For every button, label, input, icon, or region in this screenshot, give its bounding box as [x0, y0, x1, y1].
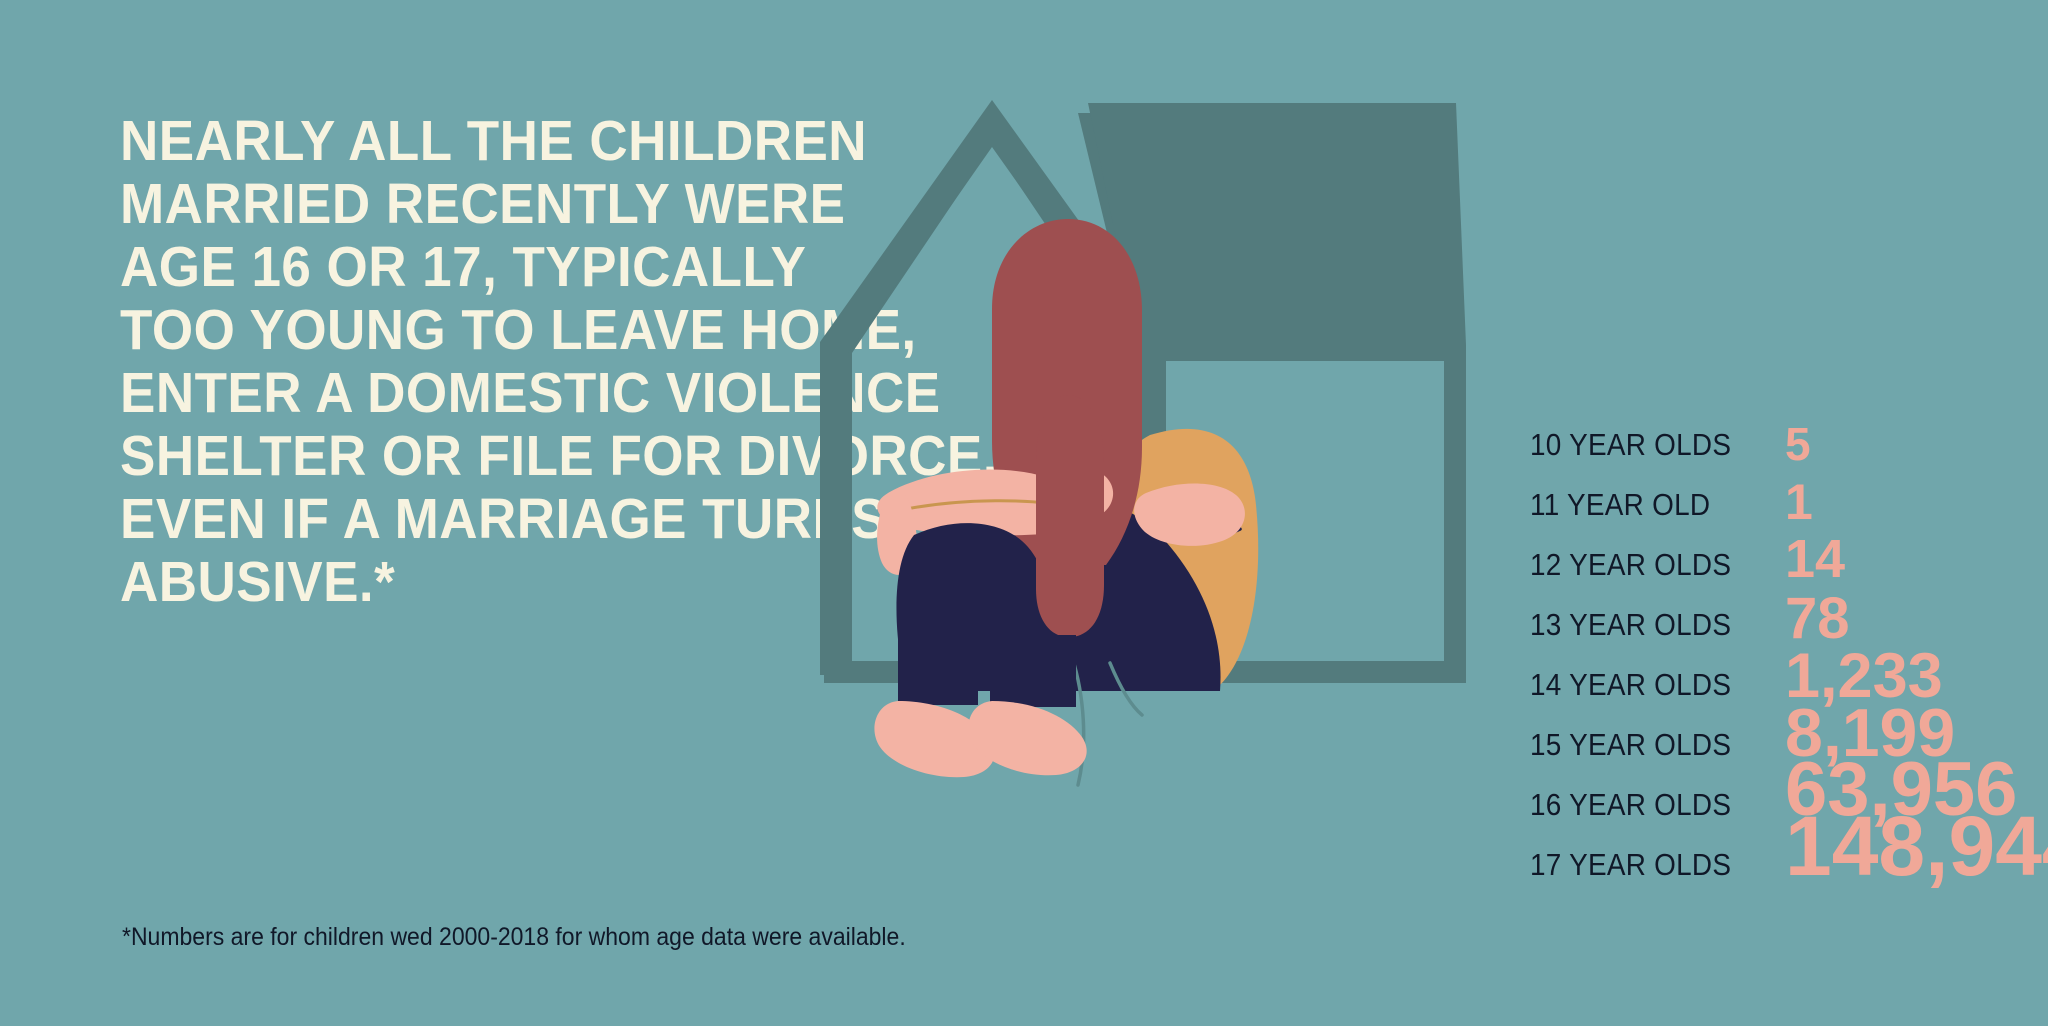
- age-value: 78: [1785, 593, 1850, 644]
- age-label: 10 YEAR OLDS: [1530, 429, 1731, 460]
- age-value: 14: [1785, 536, 1845, 584]
- age-label: 14 YEAR OLDS: [1530, 669, 1731, 700]
- age-label: 17 YEAR OLDS: [1530, 849, 1731, 880]
- table-row: 11 YEAR OLD 1: [1530, 468, 2000, 528]
- headline-line: SHELTER OR FILE FOR DIVORCE,: [120, 425, 790, 488]
- age-label: 15 YEAR OLDS: [1530, 729, 1731, 760]
- headline-line: AGE 16 OR 17, TYPICALLY: [120, 236, 790, 299]
- headline-line: EVEN IF A MARRIAGE TURNS: [120, 488, 790, 551]
- footnote: *Numbers are for children wed 2000-2018 …: [122, 922, 906, 952]
- headline: NEARLY ALL THE CHILDREN MARRIED RECENTLY…: [120, 110, 840, 614]
- house-roof-slab: [1088, 103, 1466, 345]
- age-breakdown-list: 10 YEAR OLDS 5 11 YEAR OLD 1 12 YEAR OLD…: [1530, 408, 2000, 888]
- table-row: 17 YEAR OLDS 148,944: [1530, 828, 2000, 888]
- age-label: 13 YEAR OLDS: [1530, 609, 1731, 640]
- table-row: 13 YEAR OLDS 78: [1530, 588, 2000, 648]
- headline-line: ABUSIVE.*: [120, 551, 790, 614]
- illustration-girl-in-house: [820, 95, 1480, 895]
- house-right-wall: [1444, 345, 1466, 675]
- table-row: 12 YEAR OLDS 14: [1530, 528, 2000, 588]
- infographic-canvas: NEARLY ALL THE CHILDREN MARRIED RECENTLY…: [0, 0, 2048, 1026]
- headline-line: NEARLY ALL THE CHILDREN: [120, 110, 790, 173]
- age-label: 16 YEAR OLDS: [1530, 789, 1731, 820]
- trouser-cuff-left: [898, 635, 978, 705]
- age-value: 5: [1785, 424, 1811, 464]
- age-value: 148,944: [1785, 810, 2048, 884]
- figure-hair-strand: [1036, 395, 1104, 637]
- age-label: 12 YEAR OLDS: [1530, 549, 1731, 580]
- trouser-cuff-right: [990, 635, 1076, 707]
- age-value: 1: [1785, 480, 1813, 524]
- table-row: 10 YEAR OLDS 5: [1530, 408, 2000, 468]
- headline-line: MARRIED RECENTLY WERE: [120, 173, 790, 236]
- headline-line: TOO YOUNG TO LEAVE HOME,: [120, 299, 790, 362]
- headline-line: ENTER A DOMESTIC VIOLENCE: [120, 362, 790, 425]
- age-label: 11 YEAR OLD: [1530, 489, 1710, 520]
